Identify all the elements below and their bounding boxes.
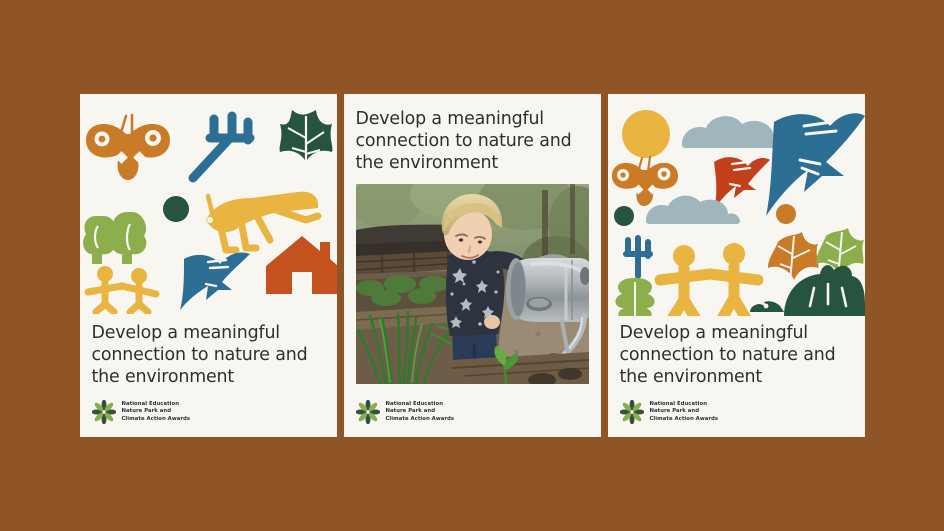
brand-name: National Education Nature Park and Clima… (122, 401, 191, 424)
illustration-grid-right (608, 104, 865, 316)
brand-logo-lockup[interactable]: National Education Nature Park and Clima… (344, 400, 601, 437)
garden-fork-icon (193, 116, 250, 178)
poster-photo-middle[interactable]: Develop a meaningful connection to natur… (344, 94, 601, 437)
sun-icon (622, 110, 670, 158)
swallow-bird-icon (180, 252, 250, 310)
poster-illustrated-right[interactable]: Develop a meaningful connection to natur… (608, 94, 865, 437)
moth-icon (86, 115, 170, 180)
maple-leaf-icon (768, 232, 818, 282)
moth-icon (612, 157, 678, 206)
dot-icon (614, 206, 634, 226)
hedgehog-icon (750, 265, 865, 316)
swallow-bird-large-icon (766, 113, 865, 216)
cloud-icon (682, 116, 788, 148)
poster-headline: Develop a meaningful connection to natur… (344, 109, 601, 175)
swallow-bird-small-icon (714, 157, 770, 210)
eight-petal-flower-icon (356, 400, 380, 424)
ivy-leaf-icon (279, 110, 332, 168)
poster-headline: Develop a meaningful connection to natur… (80, 323, 337, 389)
eight-petal-flower-icon (92, 400, 116, 424)
brand-name: National Education Nature Park and Clima… (386, 401, 455, 424)
illustration-grid-left (80, 104, 337, 314)
dot-icon (163, 196, 189, 222)
garden-fork-icon (626, 238, 650, 276)
poster-illustrated-left[interactable]: Develop a meaningful connection to natur… (80, 94, 337, 437)
bushes-icon (83, 212, 146, 264)
two-people-holding-hands-icon (660, 243, 758, 316)
brand-logo-lockup[interactable]: National Education Nature Park and Clima… (80, 400, 337, 437)
dot-icon (776, 204, 796, 224)
poster-gallery: Develop a meaningful connection to natur… (80, 94, 865, 437)
brand-name: National Education Nature Park and Clima… (650, 401, 719, 424)
poster-headline: Develop a meaningful connection to natur… (608, 323, 865, 389)
brand-logo-lockup[interactable]: National Education Nature Park and Clima… (608, 400, 865, 437)
child-watering-garden-photo (356, 184, 589, 384)
two-people-holding-hands-icon (88, 266, 156, 312)
cloud-icon (646, 196, 740, 224)
eight-petal-flower-icon (620, 400, 644, 424)
